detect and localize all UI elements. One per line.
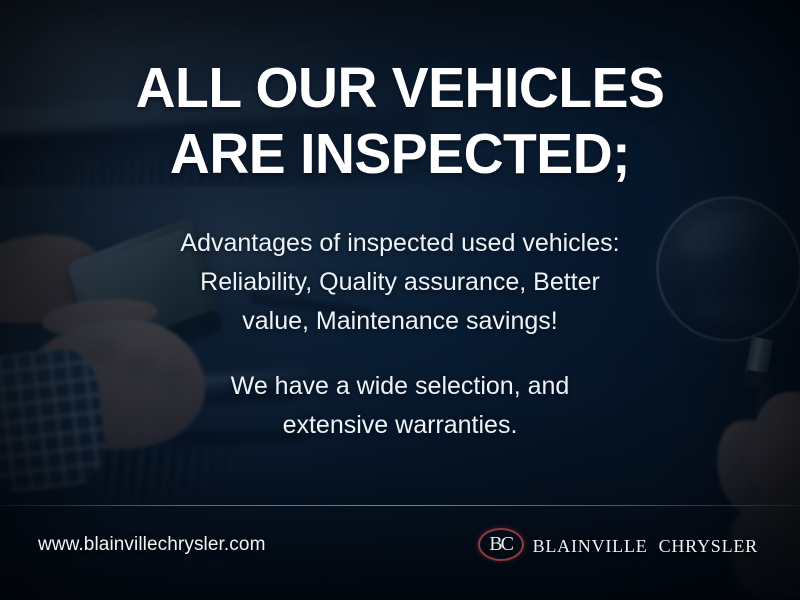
- dealership-name: BlainvilleChrysler: [533, 531, 758, 559]
- body-line-4: We have a wide selection, and: [0, 367, 800, 406]
- bc-monogram-letters: BC: [478, 528, 524, 561]
- body-paragraph-1: Advantages of inspected used vehicles: R…: [0, 224, 800, 341]
- body-line-3: value, Maintenance savings!: [0, 302, 800, 341]
- dealership-logo[interactable]: BC BlainvilleChrysler: [478, 528, 758, 561]
- body-paragraph-2: We have a wide selection, and extensive …: [0, 367, 800, 445]
- website-url[interactable]: www.blainvillechrysler.com: [38, 534, 266, 556]
- body-line-5: extensive warranties.: [0, 406, 800, 445]
- logo-word-chrysler: Chrysler: [659, 531, 758, 558]
- bc-monogram-icon: BC: [478, 528, 524, 561]
- body-line-1: Advantages of inspected used vehicles:: [0, 224, 800, 263]
- promo-slide: ALL OUR VEHICLES ARE INSPECTED; Advantag…: [0, 0, 800, 600]
- footer-divider: [0, 505, 800, 506]
- headline-line-1: ALL OUR VEHICLES: [12, 56, 788, 122]
- body-line-2: Reliability, Quality assurance, Better: [0, 263, 800, 302]
- headline-line-2: ARE INSPECTED;: [12, 122, 788, 188]
- body-copy: Advantages of inspected used vehicles: R…: [0, 224, 800, 445]
- headline: ALL OUR VEHICLES ARE INSPECTED;: [12, 56, 788, 187]
- logo-word-blainville: Blainville: [533, 531, 648, 558]
